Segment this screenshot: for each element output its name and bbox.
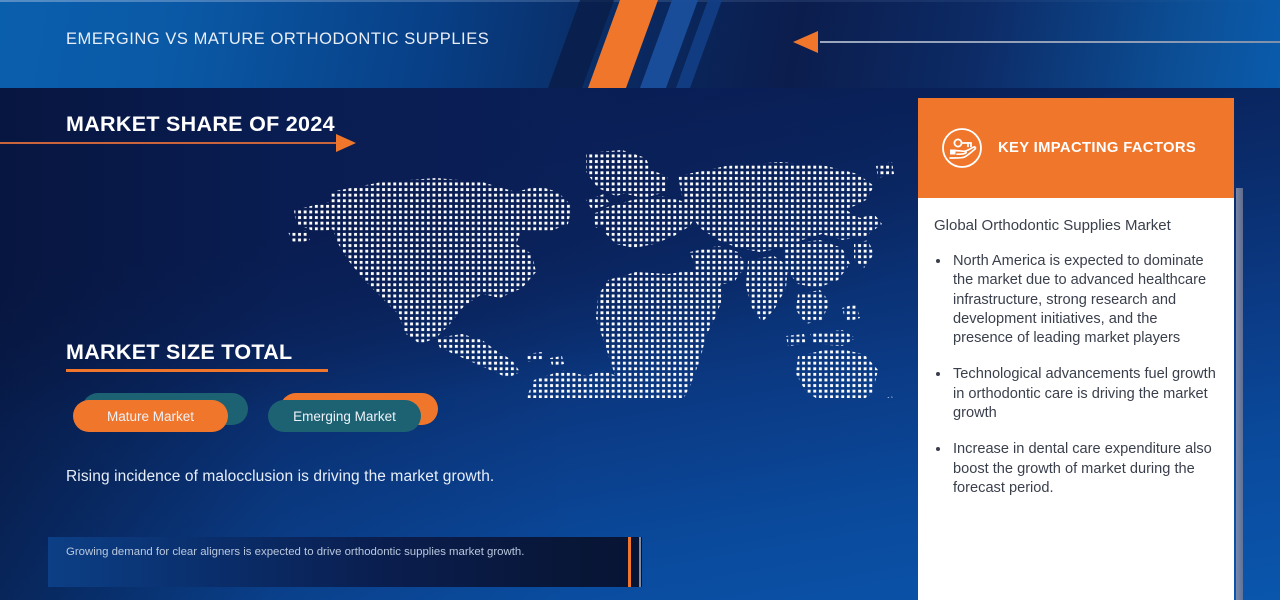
key-factors-list: North America is expected to dominate th… — [934, 252, 1218, 498]
bottom-banner-text: Growing demand for clear aligners is exp… — [66, 545, 586, 561]
header-arrow-line — [820, 41, 1280, 43]
bottom-banner-accent-bar — [628, 537, 631, 587]
hand-holding-key-icon — [940, 126, 984, 170]
bottom-banner: Growing demand for clear aligners is exp… — [48, 537, 642, 587]
panel-title: KEY IMPACTING FACTORS — [998, 140, 1196, 156]
market-share-arrow-line — [0, 142, 338, 144]
panel-header: KEY IMPACTING FACTORS — [918, 98, 1234, 198]
bullet-dot-icon — [936, 259, 940, 263]
market-size-title: MARKET SIZE TOTAL — [66, 340, 292, 365]
list-item-text: North America is expected to dominate th… — [953, 253, 1206, 346]
legend-pill-mature-market[interactable]: Mature Market — [73, 400, 228, 432]
tagline-text: Rising incidence of malocclusion is driv… — [66, 468, 494, 486]
list-item-text: Increase in dental care expenditure also… — [953, 441, 1212, 496]
market-share-title: MARKET SHARE OF 2024 — [66, 112, 335, 137]
list-item: Technological advancements fuel growth i… — [934, 365, 1218, 423]
market-size-underline — [66, 369, 328, 372]
header-title: EMERGING VS MATURE ORTHODONTIC SUPPLIES — [66, 30, 489, 49]
header-band: EMERGING VS MATURE ORTHODONTIC SUPPLIES — [0, 0, 1280, 88]
bullet-dot-icon — [936, 372, 940, 376]
dotted-world-map — [286, 148, 896, 398]
list-item-text: Technological advancements fuel growth i… — [953, 366, 1216, 421]
arrow-left-icon — [793, 31, 818, 53]
panel-subtitle: Global Orthodontic Supplies Market — [934, 216, 1218, 236]
legend-pill-emerging-market-label: Emerging Market — [293, 409, 396, 424]
panel-body: Global Orthodontic Supplies Market North… — [918, 198, 1234, 600]
bullet-dot-icon — [936, 447, 940, 451]
bottom-banner-accent-bar-secondary — [639, 537, 641, 587]
key-impacting-factors-panel: KEY IMPACTING FACTORS Global Orthodontic… — [918, 98, 1234, 600]
list-item: Increase in dental care expenditure also… — [934, 440, 1218, 498]
legend-pill-emerging-market[interactable]: Emerging Market — [268, 400, 421, 432]
list-item: North America is expected to dominate th… — [934, 252, 1218, 348]
legend-pill-mature-market-label: Mature Market — [107, 409, 194, 424]
market-size-legend: Mature Market Emerging Market — [68, 388, 468, 440]
panel-drop-shadow — [1236, 188, 1243, 600]
infographic-root: EMERGING VS MATURE ORTHODONTIC SUPPLIES … — [0, 0, 1280, 600]
